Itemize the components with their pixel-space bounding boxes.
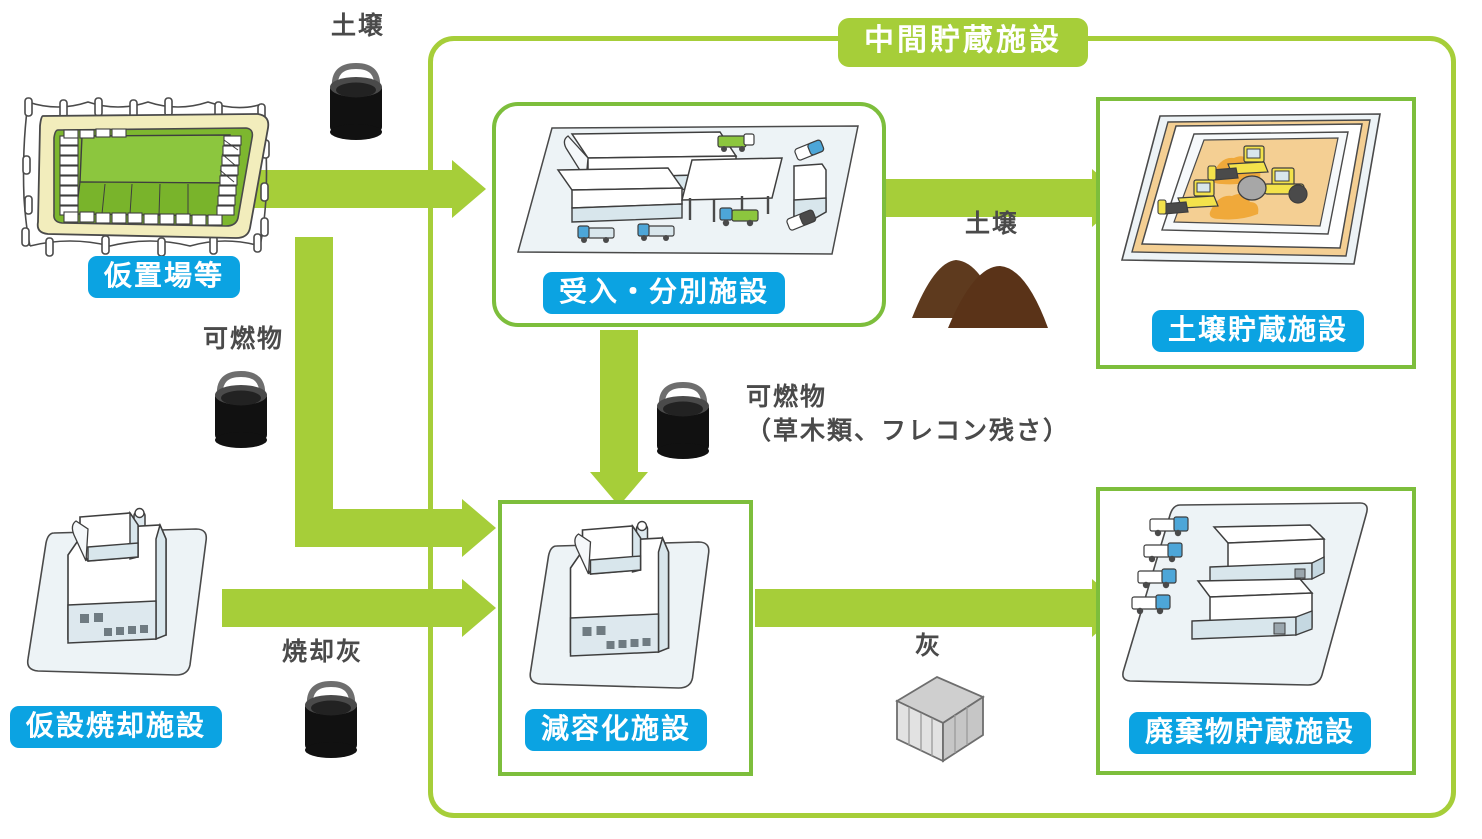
incineration-plant-icon (18, 495, 218, 690)
material-label-combustible-center: 可燃物 （草木類、フレコン残さ） (746, 381, 1070, 449)
material-label-incineration-ash: 焼却灰 (282, 636, 363, 670)
temporary-storage-site-icon (10, 78, 285, 253)
material-icon-soil-top (318, 54, 394, 146)
material-label-combustible-left: 可燃物 (203, 323, 284, 357)
facility-waste-storage-illustration (1112, 495, 1402, 695)
arrow-head-temp-to-reduction (462, 499, 496, 557)
pill-receiving-sorting: 受入・分別施設 (543, 272, 785, 314)
arrow-shaft-temp-to-reduction-horizontal (295, 509, 465, 547)
receiving-sorting-site-icon (510, 112, 868, 272)
arrow-shaft-reduction-to-waste-storage (755, 589, 1095, 627)
volume-reduction-plant-icon (518, 508, 723, 703)
facility-temp-storage[interactable] (10, 78, 285, 253)
arrow-shaft-temp-to-reduction-vertical (295, 237, 333, 547)
arrow-shaft-receiving-to-reduction (600, 330, 638, 475)
arrow-head-temp-to-receiving (452, 160, 486, 218)
black-bucket-icon (203, 362, 279, 454)
ash-cube-icon (885, 665, 995, 775)
pill-volume-reduction: 減容化施設 (525, 709, 707, 751)
soil-pile-icon (908, 248, 1058, 333)
pill-temporary-incineration: 仮設焼却施設 (10, 706, 222, 748)
material-label-soil-top: 土壌 (331, 10, 385, 44)
material-icon-ash-bottom (885, 665, 995, 775)
facility-receiving-sorting-illustration (510, 112, 868, 272)
material-icon-combustible-center (645, 373, 721, 465)
black-bucket-icon (293, 672, 369, 764)
black-bucket-icon (318, 54, 394, 146)
material-icon-incineration-ash (293, 672, 369, 764)
pill-waste-storage: 廃棄物貯蔵施設 (1129, 712, 1371, 754)
soil-storage-pit-icon (1112, 108, 1402, 276)
diagram-canvas: 中間貯蔵施設 (0, 0, 1482, 839)
material-icon-combustible-left (203, 362, 279, 454)
material-label-soil-middle: 土壌 (965, 208, 1019, 242)
pill-temp-storage: 仮置場等 (88, 256, 240, 298)
pill-soil-storage: 土壌貯蔵施設 (1152, 310, 1364, 352)
frame-title-badge: 中間貯蔵施設 (838, 18, 1088, 67)
facility-volume-reduction-illustration (518, 508, 723, 703)
material-icon-soil-middle (908, 248, 1058, 333)
material-label-ash-bottom: 灰 (915, 630, 942, 664)
arrow-head-incineration-to-reduction (462, 579, 496, 637)
arrow-shaft-incineration-to-reduction (222, 589, 465, 627)
waste-storage-warehouse-icon (1112, 495, 1402, 695)
facility-soil-storage-illustration (1112, 108, 1402, 276)
black-bucket-icon (645, 373, 721, 465)
facility-temporary-incineration[interactable] (18, 495, 218, 690)
